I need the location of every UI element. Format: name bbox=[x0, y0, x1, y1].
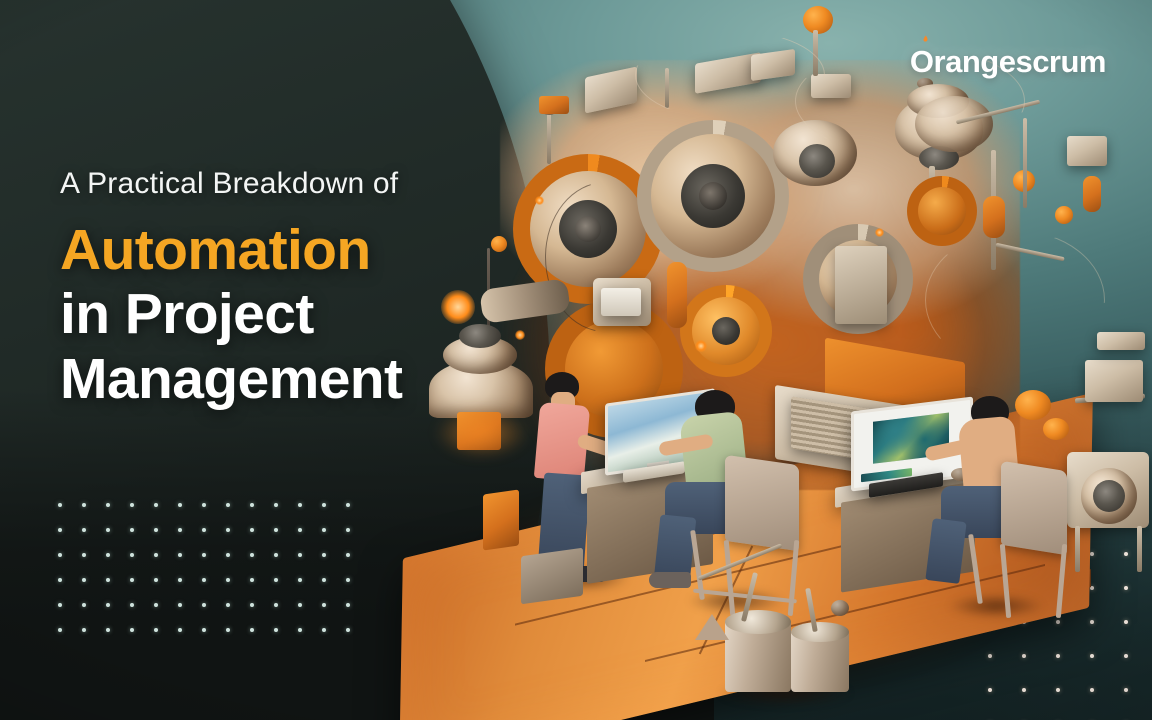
machine-column-block bbox=[835, 246, 887, 324]
spark-particle bbox=[875, 228, 884, 237]
machine-right-pod bbox=[1083, 176, 1101, 212]
spark-particle bbox=[695, 340, 707, 352]
machine-right-pod bbox=[983, 196, 1005, 238]
worker-seated-right-shadow bbox=[931, 590, 1061, 622]
worker-seated-center-shoe bbox=[649, 572, 691, 588]
machine-drum-core bbox=[799, 144, 835, 178]
machinery-right-head bbox=[1085, 360, 1143, 402]
canister-front-right-lid bbox=[791, 622, 849, 642]
machine-right-rod bbox=[1023, 118, 1027, 208]
machinery-right-knob bbox=[1043, 418, 1069, 440]
machine-strut bbox=[547, 112, 551, 164]
page-title: Automation in Project Management bbox=[60, 218, 540, 413]
headline-line-3: Management bbox=[60, 347, 540, 412]
banner-canvas: A Practical Breakdown of Automation in P… bbox=[0, 0, 1152, 720]
headline-line-2: in Project bbox=[60, 282, 540, 347]
machine-orange-bar bbox=[667, 262, 687, 328]
machinery-right-knob bbox=[1015, 390, 1051, 420]
chair-right-back bbox=[1001, 461, 1067, 555]
machine-top-knob bbox=[803, 6, 833, 34]
gear-small-right bbox=[907, 176, 977, 246]
headline-accent-line: Automation bbox=[60, 218, 540, 283]
machine-knob bbox=[1055, 206, 1073, 224]
brand-logo-text: Orangescrum bbox=[910, 44, 1106, 80]
brand-logo[interactable]: Orangescrum bbox=[910, 44, 1106, 80]
machinery-right-leg bbox=[1137, 526, 1142, 572]
machinery-right-leg bbox=[1075, 526, 1080, 572]
headline-kicker: A Practical Breakdown of bbox=[60, 168, 540, 200]
cone-marker bbox=[695, 614, 729, 640]
gear-medium bbox=[680, 285, 772, 377]
chair-center-back bbox=[725, 455, 799, 551]
orange-crate bbox=[483, 489, 519, 550]
machine-right-block bbox=[1067, 136, 1107, 166]
headline-block: A Practical Breakdown of Automation in P… bbox=[60, 168, 540, 412]
gear-large-center bbox=[637, 120, 789, 272]
machine-orange-block bbox=[539, 96, 569, 114]
machinery-right-dial-core bbox=[1093, 480, 1125, 512]
machine-display-screen bbox=[601, 288, 641, 316]
toolbox bbox=[521, 548, 583, 605]
orange-flame-accent-icon bbox=[919, 35, 932, 48]
machinery-right-cap bbox=[1097, 332, 1145, 350]
canister-front-left-lid bbox=[725, 610, 791, 634]
canister-valve bbox=[831, 600, 849, 616]
